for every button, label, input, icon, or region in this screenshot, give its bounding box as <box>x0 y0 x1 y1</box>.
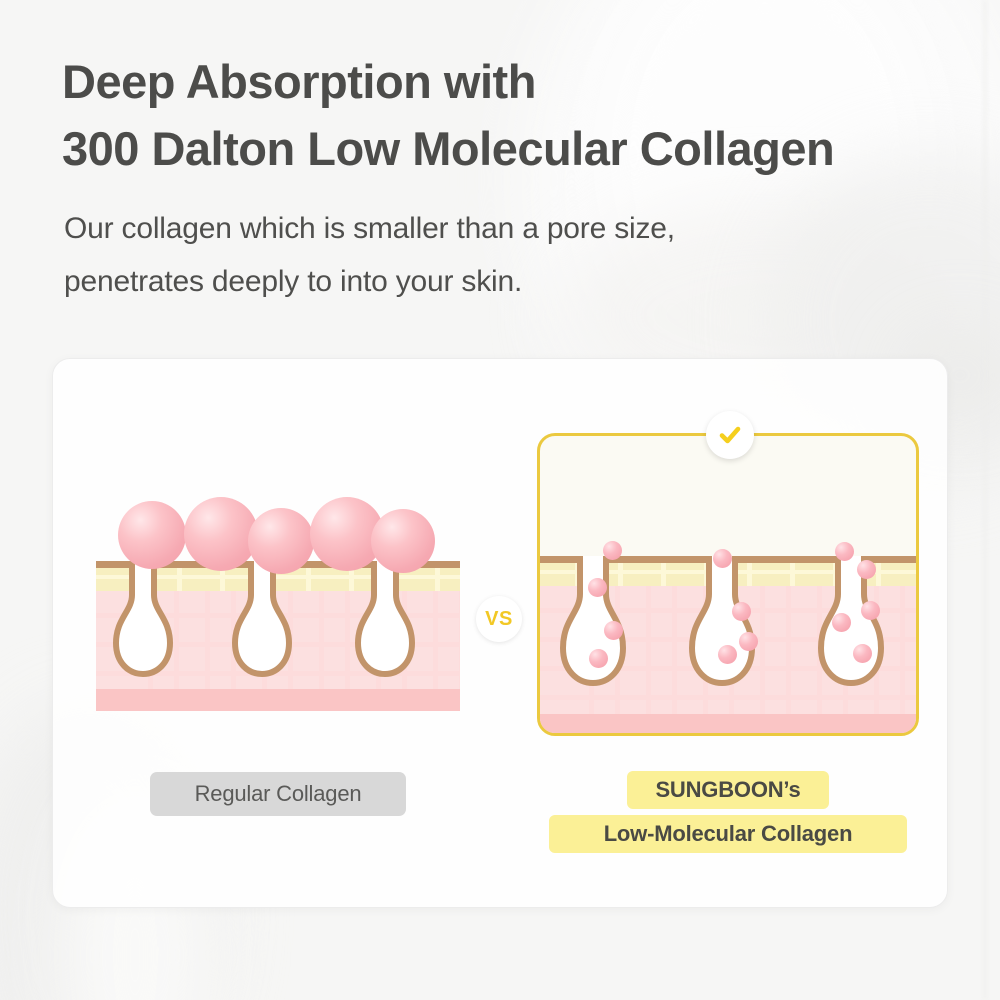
collagen-molecule-small <box>603 541 622 560</box>
page-subtitle-line-2: penetrates deeply to into your skin. <box>64 265 522 298</box>
vs-badge: VS <box>476 596 522 642</box>
collagen-molecule-small <box>589 649 608 668</box>
page-title-line-2: 300 Dalton Low Molecular Collagen <box>62 122 834 175</box>
collagen-molecule-small <box>861 601 880 620</box>
sungboon-brand-label: SUNGBOON’s <box>627 771 829 809</box>
collagen-molecule-large <box>371 509 435 573</box>
page-title-line-1: Deep Absorption with <box>62 55 536 108</box>
page-subtitle: Our collagen which is smaller than a por… <box>64 202 824 308</box>
collagen-molecule-large <box>248 508 314 574</box>
collagen-molecule-small <box>713 549 732 568</box>
collagen-molecule-small <box>857 560 876 579</box>
regular-collagen-skin-diagram <box>96 561 460 711</box>
regular-collagen-label: Regular Collagen <box>150 772 406 816</box>
collagen-molecule-small <box>718 645 737 664</box>
collagen-molecule-small <box>853 644 872 663</box>
collagen-molecule-small <box>835 542 854 561</box>
collagen-molecule-large <box>118 501 186 569</box>
collagen-molecule-small <box>739 632 758 651</box>
collagen-molecule-small <box>832 613 851 632</box>
collagen-molecule-small <box>732 602 751 621</box>
collagen-molecule-large <box>184 497 258 571</box>
page-title: Deep Absorption with 300 Dalton Low Mole… <box>62 48 972 182</box>
low-molecular-collagen-label: Low-Molecular Collagen <box>549 815 907 853</box>
check-badge <box>706 411 754 459</box>
collagen-molecule-small <box>588 578 607 597</box>
pore-shapes-left <box>96 561 460 711</box>
page-subtitle-line-1: Our collagen which is smaller than a por… <box>64 212 675 245</box>
check-icon <box>716 421 744 449</box>
collagen-molecule-small <box>604 621 623 640</box>
